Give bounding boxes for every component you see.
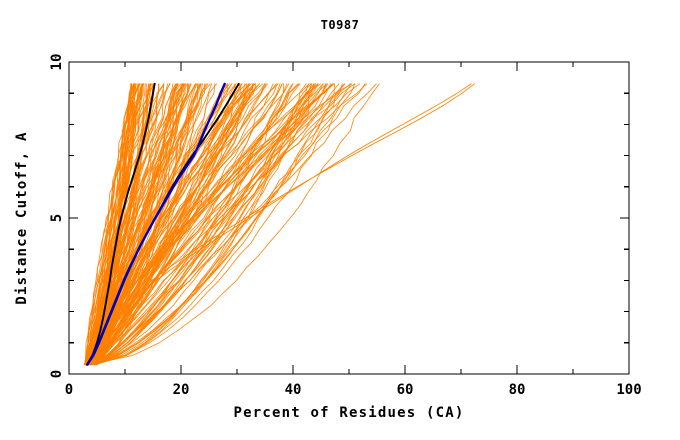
plot-canvas: T0987 020406080100 0510 Percent of Resid… — [0, 0, 680, 440]
x-tick-label: 100 — [616, 382, 641, 398]
x-tick-label: 80 — [509, 382, 526, 398]
y-tick-label: 10 — [49, 54, 65, 71]
x-tick-label: 40 — [285, 382, 302, 398]
y-axis-label: Distance Cutoff, A — [14, 131, 30, 304]
y-tick-label: 5 — [49, 214, 65, 222]
x-axis-label: Percent of Residues (CA) — [233, 405, 464, 421]
x-tick-label: 20 — [173, 382, 190, 398]
y-tick-label: 0 — [49, 370, 65, 378]
x-tick-label: 60 — [397, 382, 414, 398]
page-title: T0987 — [321, 18, 360, 32]
x-tick-label: 0 — [65, 382, 73, 398]
plot-figure: T0987 020406080100 0510 Percent of Resid… — [0, 0, 680, 440]
